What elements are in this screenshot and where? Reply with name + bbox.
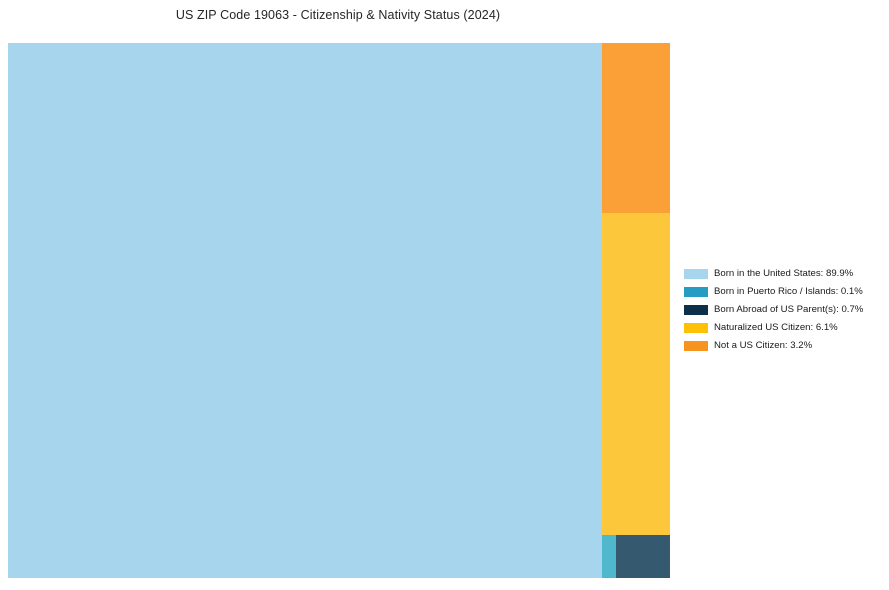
legend-swatch-icon — [684, 341, 708, 351]
legend-item-label: Born in the United States: 89.9% — [714, 265, 853, 283]
page-title: US ZIP Code 19063 - Citizenship & Nativi… — [0, 8, 676, 22]
legend-item[interactable]: Naturalized US Citizen: 6.1% — [684, 319, 884, 337]
treemap-tile[interactable] — [616, 535, 670, 578]
treemap-plot-area — [8, 43, 670, 578]
legend-swatch-icon — [684, 287, 708, 297]
treemap-figure: US ZIP Code 19063 - Citizenship & Nativi… — [0, 0, 889, 590]
legend-item-label: Born Abroad of US Parent(s): 0.7% — [714, 301, 863, 319]
chart-legend: Born in the United States: 89.9%Born in … — [684, 265, 884, 355]
legend-item-label: Naturalized US Citizen: 6.1% — [714, 319, 838, 337]
legend-item[interactable]: Born Abroad of US Parent(s): 0.7% — [684, 301, 884, 319]
legend-swatch-icon — [684, 305, 708, 315]
legend-item[interactable]: Not a US Citizen: 3.2% — [684, 337, 884, 355]
treemap-tile[interactable] — [602, 535, 616, 578]
legend-swatch-icon — [684, 323, 708, 333]
legend-item-label: Born in Puerto Rico / Islands: 0.1% — [714, 283, 863, 301]
treemap-tile[interactable] — [602, 213, 670, 535]
legend-item[interactable]: Born in the United States: 89.9% — [684, 265, 884, 283]
legend-swatch-icon — [684, 269, 708, 279]
treemap-tile[interactable] — [602, 43, 670, 213]
treemap-tile[interactable] — [8, 43, 602, 578]
legend-item-label: Not a US Citizen: 3.2% — [714, 337, 812, 355]
legend-item[interactable]: Born in Puerto Rico / Islands: 0.1% — [684, 283, 884, 301]
